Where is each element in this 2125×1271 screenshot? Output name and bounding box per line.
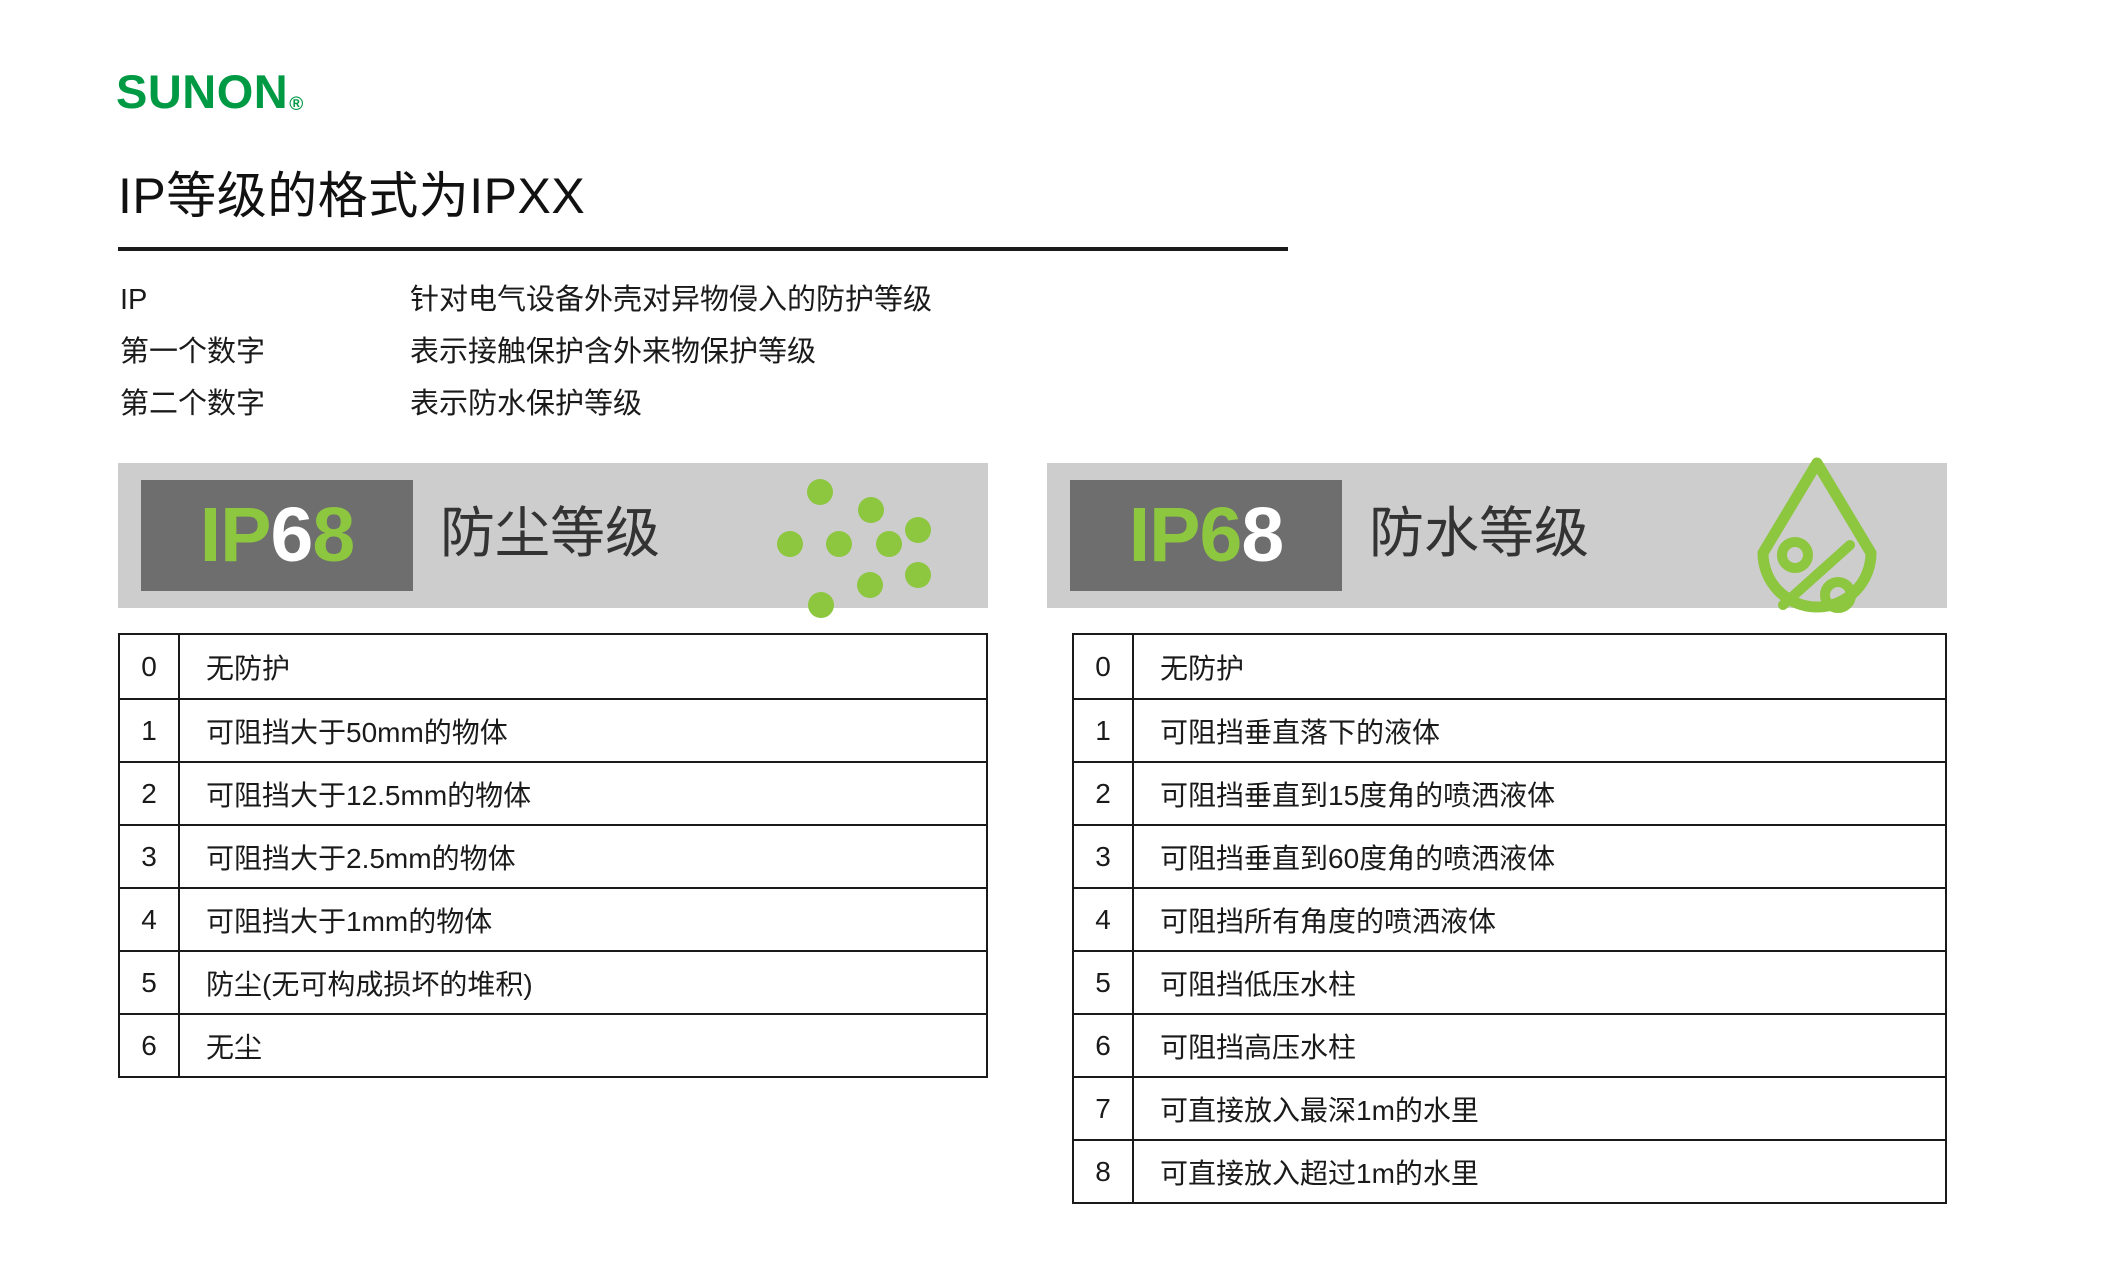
water-code-second-digit: 8 [1241, 492, 1283, 578]
dust-code-ip: IP [200, 492, 271, 578]
table-row: 5 防尘(无可构成损坏的堆积) [120, 950, 986, 1013]
table-row: 4 可阻挡大于1mm的物体 [120, 887, 986, 950]
rating-description: 无尘 [180, 1026, 262, 1066]
title-divider [118, 247, 1288, 251]
definition-row: 第一个数字 表示接触保护含外来物保护等级 [120, 333, 1220, 385]
dust-ip-code-box: IP68 [141, 480, 413, 591]
rating-description: 可直接放入超过1m的水里 [1134, 1152, 1479, 1192]
water-rating-label: 防水等级 [1369, 500, 1589, 566]
rating-description: 可阻挡垂直到15度角的喷洒液体 [1134, 774, 1555, 814]
rating-number: 0 [120, 635, 180, 698]
definition-term: 第一个数字 [120, 333, 410, 372]
table-row: 7 可直接放入最深1m的水里 [1074, 1076, 1945, 1139]
definition-description: 表示防水保护等级 [410, 385, 642, 424]
rating-number: 5 [120, 952, 180, 1013]
rating-description: 可阻挡垂直落下的液体 [1134, 711, 1440, 751]
rating-number: 4 [120, 889, 180, 950]
rating-number: 3 [120, 826, 180, 887]
definition-row: IP 针对电气设备外壳对异物侵入的防护等级 [120, 281, 1220, 333]
rating-description: 防尘(无可构成损坏的堆积) [180, 963, 533, 1003]
page-title: IP等级的格式为IPXX [118, 168, 585, 224]
rating-description: 无防护 [180, 647, 290, 687]
rating-description: 可阻挡所有角度的喷洒液体 [1134, 900, 1496, 940]
table-row: 0 无防护 [120, 635, 986, 698]
dust-rating-table: 0 无防护 1 可阻挡大于50mm的物体 2 可阻挡大于12.5mm的物体 3 … [118, 633, 988, 1078]
table-row: 1 可阻挡垂直落下的液体 [1074, 698, 1945, 761]
dust-code-second-digit: 8 [312, 492, 354, 578]
definition-description: 表示接触保护含外来物保护等级 [410, 333, 816, 372]
rating-description: 可阻挡高压水柱 [1134, 1026, 1356, 1066]
definition-description: 针对电气设备外壳对异物侵入的防护等级 [410, 281, 932, 320]
water-rating-banner: IP68 防水等级 [1047, 463, 1947, 608]
rating-description: 可阻挡垂直到60度角的喷洒液体 [1134, 837, 1555, 877]
water-rating-table: 0 无防护 1 可阻挡垂直落下的液体 2 可阻挡垂直到15度角的喷洒液体 3 可… [1072, 633, 1947, 1204]
dust-code-first-digit: 6 [271, 492, 313, 578]
rating-number: 7 [1074, 1078, 1134, 1139]
rating-description: 可阻挡大于12.5mm的物体 [180, 774, 531, 814]
table-row: 3 可阻挡大于2.5mm的物体 [120, 824, 986, 887]
rating-description: 可直接放入最深1m的水里 [1134, 1089, 1479, 1129]
table-row: 3 可阻挡垂直到60度角的喷洒液体 [1074, 824, 1945, 887]
rating-description: 可阻挡低压水柱 [1134, 963, 1356, 1003]
dust-dots-icon [783, 459, 973, 634]
table-row: 5 可阻挡低压水柱 [1074, 950, 1945, 1013]
rating-number: 5 [1074, 952, 1134, 1013]
rating-description: 无防护 [1134, 647, 1244, 687]
rating-number: 6 [120, 1015, 180, 1076]
rating-number: 8 [1074, 1141, 1134, 1202]
rating-number: 1 [1074, 700, 1134, 761]
table-row: 2 可阻挡大于12.5mm的物体 [120, 761, 986, 824]
rating-description: 可阻挡大于50mm的物体 [180, 711, 508, 751]
sunon-logo: SUNON® [116, 68, 304, 115]
definition-term: IP [120, 281, 410, 320]
table-row: 2 可阻挡垂直到15度角的喷洒液体 [1074, 761, 1945, 824]
rating-description: 可阻挡大于2.5mm的物体 [180, 837, 516, 877]
rating-number: 0 [1074, 635, 1134, 698]
ip-rating-infographic: SUNON® IP等级的格式为IPXX IP 针对电气设备外壳对异物侵入的防护等… [0, 0, 2125, 1271]
table-row: 6 可阻挡高压水柱 [1074, 1013, 1945, 1076]
water-code-first-digit: 6 [1200, 492, 1242, 578]
table-row: 8 可直接放入超过1m的水里 [1074, 1139, 1945, 1202]
table-row: 6 无尘 [120, 1013, 986, 1076]
water-drop-percent-icon [1737, 445, 1897, 635]
rating-number: 1 [120, 700, 180, 761]
rating-number: 2 [120, 763, 180, 824]
rating-number: 3 [1074, 826, 1134, 887]
rating-number: 6 [1074, 1015, 1134, 1076]
table-row: 4 可阻挡所有角度的喷洒液体 [1074, 887, 1945, 950]
definition-list: IP 针对电气设备外壳对异物侵入的防护等级 第一个数字 表示接触保护含外来物保护… [120, 281, 1220, 437]
table-row: 1 可阻挡大于50mm的物体 [120, 698, 986, 761]
water-code-ip: IP [1129, 492, 1200, 578]
rating-number: 4 [1074, 889, 1134, 950]
dust-rating-banner: IP68 防尘等级 [118, 463, 988, 608]
rating-description: 可阻挡大于1mm的物体 [180, 900, 492, 940]
water-ip-code-box: IP68 [1070, 480, 1342, 591]
brand-name: SUNON [116, 65, 288, 118]
registered-trademark-icon: ® [289, 94, 304, 115]
definition-term: 第二个数字 [120, 385, 410, 424]
table-row: 0 无防护 [1074, 635, 1945, 698]
definition-row: 第二个数字 表示防水保护等级 [120, 385, 1220, 437]
rating-number: 2 [1074, 763, 1134, 824]
dust-rating-label: 防尘等级 [440, 500, 660, 566]
